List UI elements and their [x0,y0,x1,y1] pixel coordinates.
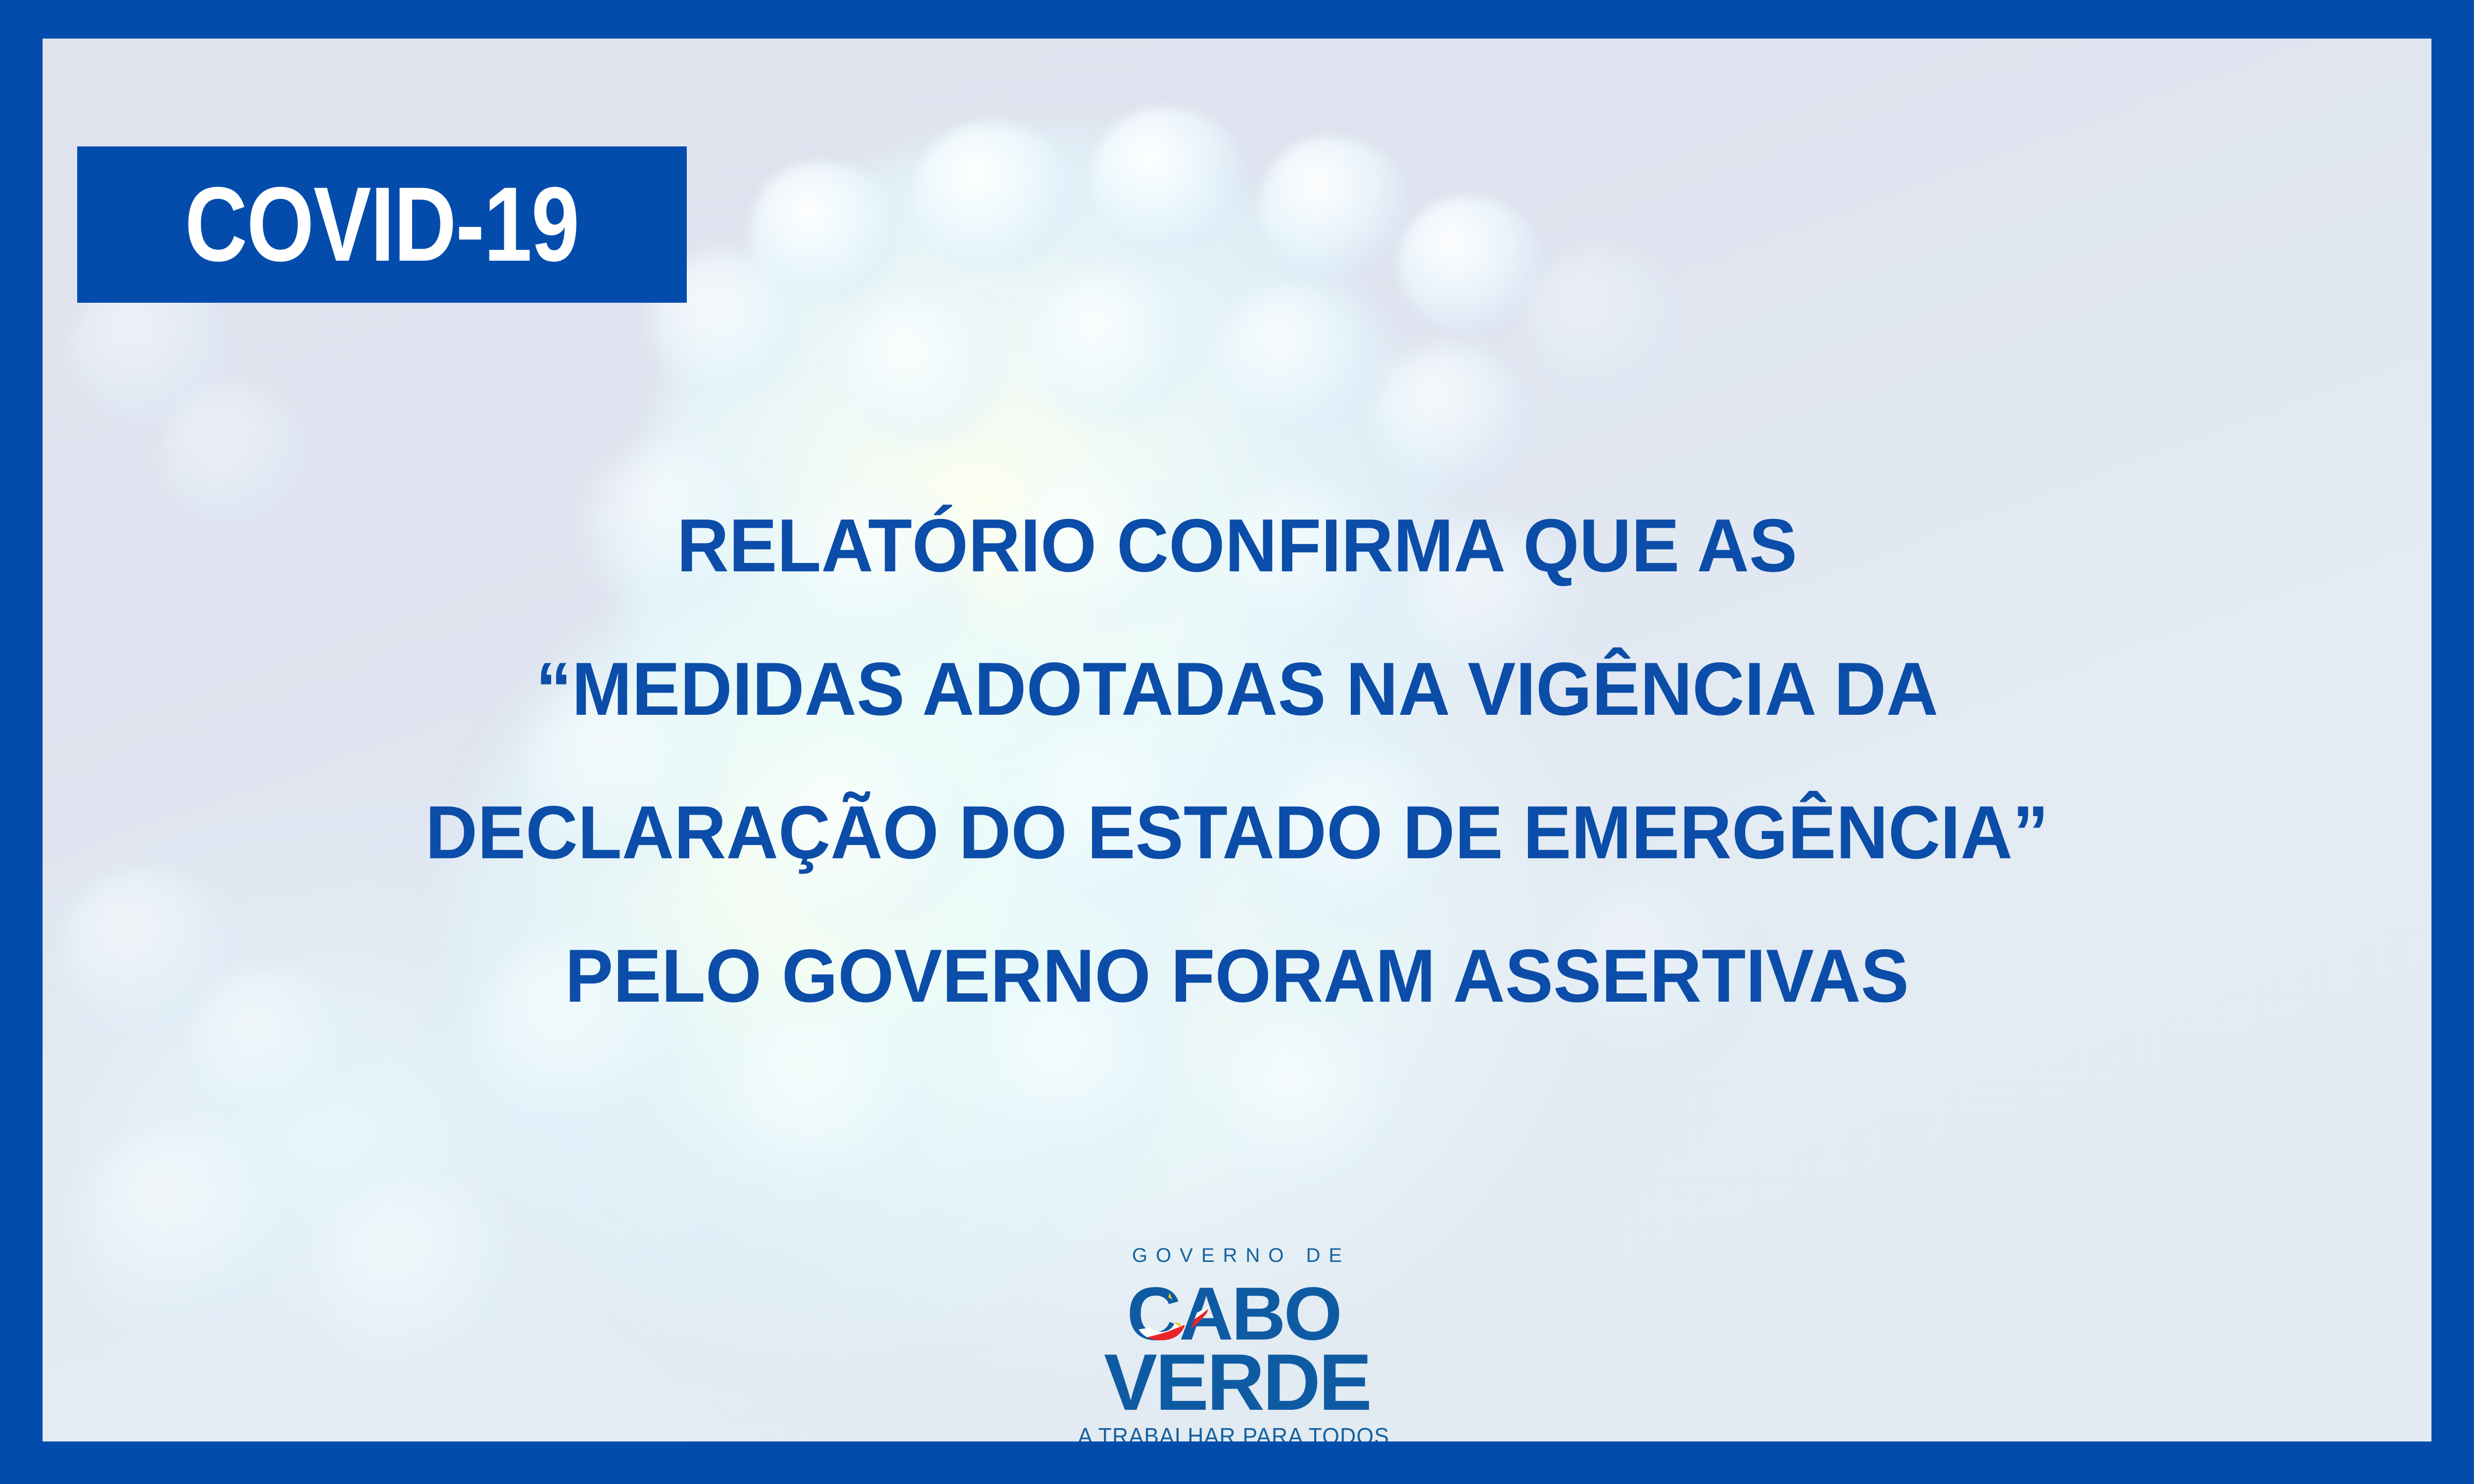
headline-line-3: DECLARAÇÃO DO ESTADO DE EMERGÊNCIA” [91,761,2384,904]
logo-tagline: A TRABALHAR PARA TODOS. [1069,1425,1405,1441]
logo-word-verde: VERDE [1104,1338,1370,1418]
poster: COVID-19 RELATÓRIO CONFIRMA QUE AS “MEDI… [0,0,2474,1484]
covid19-badge: COVID-19 [77,146,687,303]
poster-canvas: COVID-19 RELATÓRIO CONFIRMA QUE AS “MEDI… [43,39,2431,1441]
covid19-badge-label: COVID-19 [185,172,579,278]
headline-line-4: PELO GOVERNO FORAM ASSERTIVAS [91,904,2384,1048]
headline-line-2: “MEDIDAS ADOTADAS NA VIGÊNCIA DA [91,617,2384,761]
logo-wordmark: CABO CABO [1064,1273,1410,1418]
government-logo: GOVERNO DE CABO CABO [1064,1246,1410,1441]
headline-line-1: RELATÓRIO CONFIRMA QUE AS [91,474,2384,617]
logo-eyebrow-governo-de: GOVERNO DE [1064,1246,1410,1265]
headline-block: RELATÓRIO CONFIRMA QUE AS “MEDIDAS ADOTA… [43,474,2431,1048]
cabo-verde-wordmark-icon: CABO CABO [1064,1273,1410,1418]
